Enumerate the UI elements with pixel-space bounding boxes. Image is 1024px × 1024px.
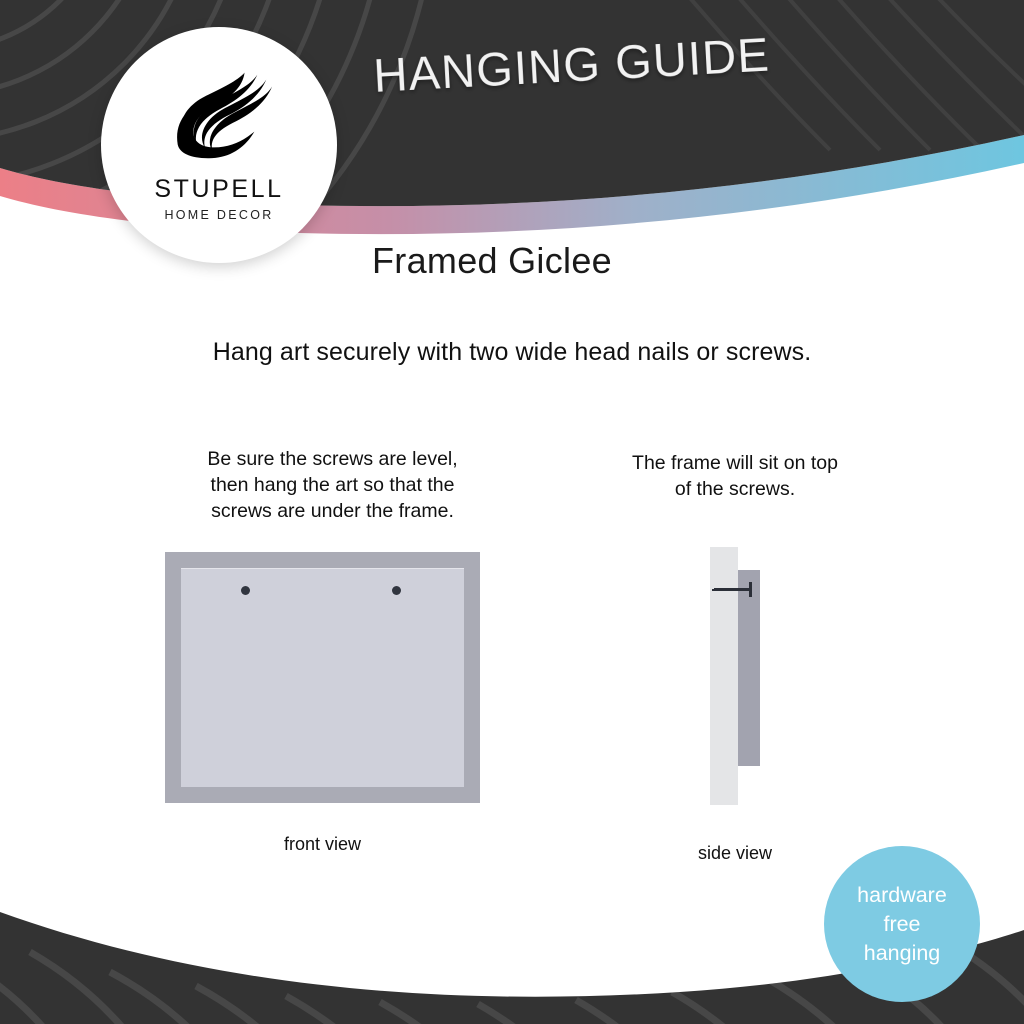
front-caption-line-2: then hang the art so that the <box>211 474 455 496</box>
front-view-caption: Be sure the screws are level, then hang … <box>160 446 505 524</box>
front-view-frame-diagram <box>165 552 480 803</box>
brand-logo-badge: STUPELL HOME DECOR <box>101 27 337 263</box>
screw-hole-right-icon <box>392 586 401 595</box>
front-caption-line-3: screws are under the frame. <box>211 500 454 522</box>
page-title: HANGING GUIDE <box>372 20 894 103</box>
side-view-frame <box>738 570 760 766</box>
front-caption-line-1: Be sure the screws are level, <box>207 448 457 470</box>
side-view-nail-head <box>749 582 752 597</box>
product-type-heading: Framed Giclee <box>372 240 612 282</box>
front-view-label: front view <box>165 834 480 855</box>
side-caption-line-2: of the screws. <box>675 478 795 500</box>
side-view-caption: The frame will sit on top of the screws. <box>585 450 885 502</box>
side-view-nail-shaft <box>714 588 752 591</box>
badge-line-3: hanging <box>864 939 941 968</box>
hardware-free-hanging-badge: hardware free hanging <box>824 846 980 1002</box>
front-view-mat <box>181 568 464 787</box>
side-view-label: side view <box>655 843 815 864</box>
side-caption-line-1: The frame will sit on top <box>632 452 838 474</box>
stupell-swoosh-logo-icon <box>160 54 278 172</box>
side-view-wall <box>710 547 738 805</box>
hanging-guide-page: STUPELL HOME DECOR HANGING GUIDE Framed … <box>0 0 1024 1024</box>
brand-tagline: HOME DECOR <box>164 209 273 222</box>
badge-line-2: free <box>883 910 920 939</box>
badge-line-1: hardware <box>857 881 947 910</box>
screw-hole-left-icon <box>241 586 250 595</box>
lead-instruction: Hang art securely with two wide head nai… <box>0 338 1024 367</box>
brand-name: STUPELL <box>154 177 283 202</box>
